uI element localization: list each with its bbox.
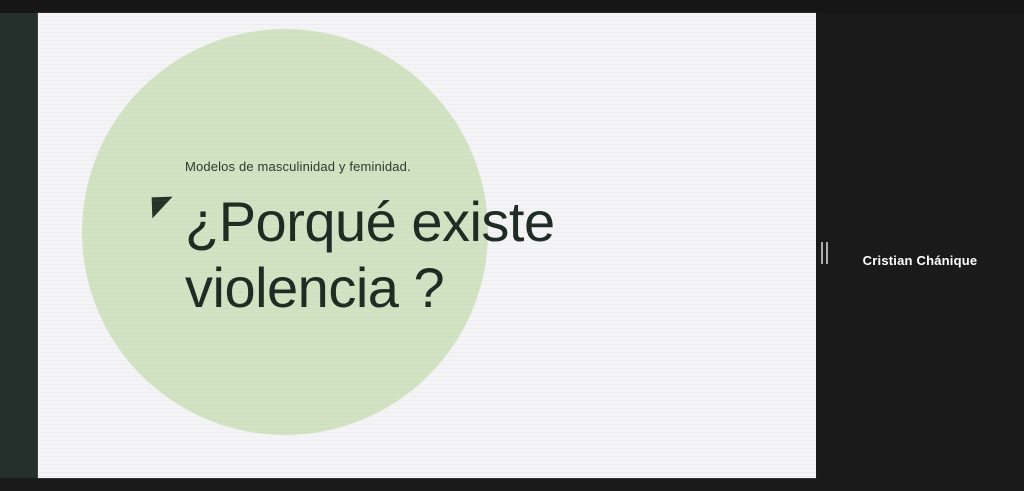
slide-subtitle: Modelos de masculinidad y feminidad. — [185, 158, 785, 175]
participant-tile[interactable]: Cristian Chánique — [816, 13, 1024, 478]
triangle-pointer-icon — [152, 197, 174, 219]
slide-text-block: Modelos de masculinidad y feminidad. ¿Po… — [185, 158, 785, 321]
participant-name-label: Cristian Chánique — [816, 253, 1024, 268]
slide-title: ¿Porqué existe violencia ? — [185, 189, 785, 321]
stage-bottom-bar — [0, 478, 1024, 491]
stage-top-bar — [0, 0, 1024, 13]
shared-screen-slide[interactable]: Modelos de masculinidad y feminidad. ¿Po… — [38, 13, 816, 478]
slide-title-row: ¿Porqué existe violencia ? — [185, 189, 785, 321]
video-conference-screen: Modelos de masculinidad y feminidad. ¿Po… — [0, 0, 1024, 491]
stage-left-band — [0, 13, 38, 478]
